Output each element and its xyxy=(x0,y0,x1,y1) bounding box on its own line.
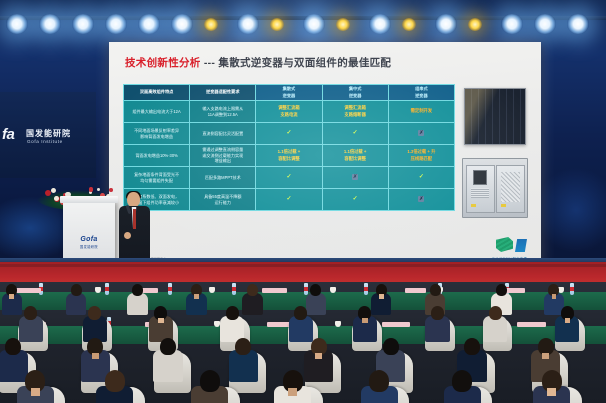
slide-title: 技术创新性分析 --- 集散式逆变器与双面组件的最佳匹配 xyxy=(125,55,391,70)
table-cell-verdict: ✓ xyxy=(322,123,388,145)
stage-light xyxy=(303,14,325,34)
comparison-table: 双面高效组件特点逆变器适配性要求集散式逆变器集中式逆变器组串式逆变器 组件最大输… xyxy=(123,84,455,211)
audience-member-head xyxy=(489,306,502,320)
table-cell-verdict: ✗ xyxy=(388,189,454,211)
presenter-head xyxy=(127,192,140,207)
water-bottle xyxy=(105,283,109,295)
wall-logo-english: Gofa Institute xyxy=(27,139,63,144)
check-icon: ✓ xyxy=(286,130,291,136)
stage-light xyxy=(237,14,259,34)
audience-member-head xyxy=(132,284,143,296)
wall-logo: fa 国发能研院 Gofa Institute xyxy=(0,118,92,152)
slide-title-highlight: 技术创新性分析 xyxy=(125,57,201,69)
table-cell-verdict: 1.3倍过载 + 升压线路匹配 xyxy=(388,145,454,167)
stage-light xyxy=(39,14,61,34)
solar-panel-image xyxy=(464,88,526,145)
podium-logo-chinese: 国发能研院 xyxy=(74,244,104,249)
stage-light xyxy=(171,14,193,34)
podium-logo-brand: Gofa xyxy=(74,236,104,243)
audience-member-head xyxy=(369,370,389,392)
audience-member-head xyxy=(430,284,441,296)
audience-member-torso xyxy=(289,316,313,342)
cross-icon: ✗ xyxy=(352,174,358,180)
flower xyxy=(109,188,113,192)
audience-member-neck xyxy=(288,388,297,396)
slide-title-rest: --- 集散式逆变器与双面组件的最佳匹配 xyxy=(201,57,392,69)
table-cell: 输入支路电流上限需从11A调整到12.5A xyxy=(190,101,256,123)
audience-member-head xyxy=(310,284,321,296)
podium-top xyxy=(60,196,118,203)
table-header-cell: 组串式逆变器 xyxy=(388,85,454,101)
stage-light xyxy=(6,14,28,34)
check-icon: ✓ xyxy=(286,174,291,180)
stage-light xyxy=(435,14,457,34)
audience-member-head xyxy=(235,338,251,355)
audience-member-torso xyxy=(127,293,147,315)
stage-light xyxy=(468,18,482,31)
audience-member-torso xyxy=(229,350,259,382)
wall-logo-mark: fa xyxy=(2,126,14,143)
audience-member-head xyxy=(294,306,307,320)
audience-member-head xyxy=(160,338,176,355)
audience-member-neck xyxy=(31,388,40,396)
table-row: 复杂地面条件背面受光不均匀需要组件失配匹配多路MPPT技术✓✗✓ xyxy=(124,167,455,189)
table-header-cell: 逆变器适配性要求 xyxy=(190,85,256,101)
audience-member-neck xyxy=(315,353,322,359)
presentation-slide: 技术创新性分析 --- 集散式逆变器与双面组件的最佳匹配 双面高效组件特点逆变器… xyxy=(109,42,541,267)
table-cell-verdict: ✓ xyxy=(256,123,322,145)
cross-icon: ✗ xyxy=(418,130,424,136)
inverter-cabinet-image xyxy=(462,158,528,218)
table-header-cell: 集中式逆变器 xyxy=(322,85,388,101)
cabinet-label-left xyxy=(471,204,476,207)
water-bottle xyxy=(570,283,574,295)
tea-cup xyxy=(330,287,336,293)
audience-member-head xyxy=(5,338,21,355)
audience-member-neck xyxy=(552,294,557,298)
table-cell: 背面发电增益10%-30% xyxy=(124,145,190,167)
table-cell: 直流侧容配比灵活配置 xyxy=(190,123,256,145)
audience-area xyxy=(0,282,606,403)
check-icon: ✓ xyxy=(353,130,358,136)
table-cell: 具备55度高温不降额运行能力 xyxy=(190,189,256,211)
table-cell-verdict: ✓ xyxy=(256,167,322,189)
audience-member-neck xyxy=(379,294,384,298)
table-cell-verdict: 1.1倍过载 +容配比调整 xyxy=(322,145,388,167)
projection-screen: 技术创新性分析 --- 集散式逆变器与双面组件的最佳匹配 双面高效组件特点逆变器… xyxy=(109,42,541,267)
water-bottle xyxy=(168,283,172,295)
cabinet-door-right xyxy=(496,165,525,213)
audience-member-head xyxy=(464,338,480,355)
table-row: 组件最大输出电流大于12A输入支路电流上限需从11A调整到12.5A调整汇流箱支… xyxy=(124,101,455,123)
audience-member-head xyxy=(200,370,220,392)
water-bottle xyxy=(304,283,308,295)
audience-member-head xyxy=(71,284,82,296)
audience-member-torso xyxy=(306,293,326,315)
table-row: 温度系数低、双面发电，高温下组件功率衰减较小具备55度高温不降额运行能力✓✓✗ xyxy=(124,189,455,211)
table-body: 组件最大输出电流大于12A输入支路电流上限需从11A调整到12.5A调整汇流箱支… xyxy=(124,101,455,211)
stage-light xyxy=(138,14,160,34)
cross-icon: ✗ xyxy=(418,196,424,202)
audience-member-neck xyxy=(362,318,368,323)
table-cell-verdict: ✓ xyxy=(388,167,454,189)
audience-member-head xyxy=(383,338,399,355)
audience-member-head xyxy=(247,284,258,296)
presenter-tie xyxy=(133,209,136,229)
flower xyxy=(51,188,56,193)
audience-member-torso xyxy=(425,316,449,342)
table-cell-verdict: ✗ xyxy=(388,123,454,145)
tea-cup xyxy=(209,287,215,293)
audience-member-head xyxy=(496,284,507,296)
stage-light xyxy=(369,14,391,34)
table-cell: 匹配多路MPPT技术 xyxy=(190,167,256,189)
table-cell: 组件最大输出电流大于12A xyxy=(124,101,190,123)
audience-member-neck xyxy=(158,318,164,323)
table-cell: 复杂地面条件背面受光不均匀需要组件失配 xyxy=(124,167,190,189)
table-cell-verdict: ✗ xyxy=(322,167,388,189)
audience-member-torso xyxy=(66,293,86,315)
check-icon: ✓ xyxy=(353,196,358,202)
audience-member-head xyxy=(88,306,101,320)
stage-light xyxy=(204,18,218,31)
audience-member-torso xyxy=(0,350,28,382)
table-row: 背面发电增益10%-30%需通过调整直流侧容量或交流侧过载能力实现增益输出1.1… xyxy=(124,145,455,167)
verdict-text: 需定制开发 xyxy=(411,108,432,113)
cabinet-label-right xyxy=(501,204,506,207)
flower xyxy=(45,190,51,196)
audience-member-neck xyxy=(92,353,99,359)
podium-logo: Gofa 国发能研院 xyxy=(74,236,104,249)
verdict-text: 调整汇流箱支路熔断器 xyxy=(344,105,365,116)
handout-paper xyxy=(382,322,410,327)
stage-light xyxy=(402,18,416,31)
verdict-text: 1.1倍过载 +容配比调整 xyxy=(344,149,367,160)
conference-hall-scene: fa 国发能研院 Gofa Institute 技术创新性分析 --- 集散式逆… xyxy=(0,0,606,403)
audience-member-torso xyxy=(483,316,507,342)
bar-icon xyxy=(515,239,527,252)
table-cell-verdict: 调整汇流箱支路电流 xyxy=(256,101,322,123)
handout-paper xyxy=(262,288,288,293)
table-cell-verdict: 1.1倍过载 +容配比调整 xyxy=(256,145,322,167)
audience-member-head xyxy=(24,306,37,320)
water-bottle xyxy=(364,283,368,295)
table-cell: 需通过调整直流侧容量或交流侧过载能力实现增益输出 xyxy=(190,145,256,167)
cabinet-door-left xyxy=(466,165,495,213)
cabinet-display xyxy=(473,170,487,185)
presenter-hand xyxy=(124,232,131,239)
stage-light xyxy=(501,14,523,34)
audience-member-neck xyxy=(542,353,549,359)
leaf-icon xyxy=(496,237,513,252)
audience-member-head xyxy=(431,306,444,320)
table-cell-verdict: 需定制开发 xyxy=(388,101,454,123)
audience-member-neck xyxy=(194,294,199,298)
stage-light xyxy=(105,14,127,34)
audience-member-torso xyxy=(19,316,43,342)
flower xyxy=(54,196,59,201)
cabinet-vent xyxy=(471,188,489,198)
verdict-text: 1.3倍过载 + 升压线路匹配 xyxy=(407,149,435,160)
flower xyxy=(89,187,94,192)
stage-light xyxy=(534,14,556,34)
table-cell-verdict: ✓ xyxy=(256,189,322,211)
cabinet-grill xyxy=(501,172,520,202)
table-cell: 不同地面场景反射率差异影响背面发电增益 xyxy=(124,123,190,145)
flower xyxy=(97,188,100,191)
stage-light xyxy=(270,18,284,31)
stage-light xyxy=(567,14,589,34)
check-icon: ✓ xyxy=(419,174,424,180)
audience-member-torso xyxy=(242,293,262,315)
table-row: 不同地面场景反射率差异影响背面发电增益直流侧容配比灵活配置✓✓✗ xyxy=(124,123,455,145)
audience-member-neck xyxy=(547,388,556,396)
table-header-cell: 双面高效组件特点 xyxy=(124,85,190,101)
wall-logo-chinese: 国发能研院 xyxy=(26,128,71,139)
audience-member-head xyxy=(452,370,472,392)
stage-light xyxy=(336,18,350,31)
check-icon: ✓ xyxy=(286,196,291,202)
table-header-row: 双面高效组件特点逆变器适配性要求集散式逆变器集中式逆变器组串式逆变器 xyxy=(124,85,455,101)
audience-member-head xyxy=(226,306,239,320)
audience-member-neck xyxy=(565,318,571,323)
verdict-text: 1.1倍过载 +容配比调整 xyxy=(278,149,301,160)
handout-paper xyxy=(405,288,426,293)
table-cell-verdict: 调整汇流箱支路熔断器 xyxy=(322,101,388,123)
table-head: 双面高效组件特点逆变器适配性要求集散式逆变器集中式逆变器组串式逆变器 xyxy=(124,85,455,101)
audience-member-torso xyxy=(153,350,183,382)
table-header-cell: 集散式逆变器 xyxy=(256,85,322,101)
verdict-text: 调整汇流箱支路电流 xyxy=(278,105,299,116)
handout-paper xyxy=(16,288,42,293)
handout-paper xyxy=(517,322,546,327)
audience-member-neck xyxy=(9,294,14,298)
stage-light xyxy=(72,14,94,34)
table-cell-verdict: ✓ xyxy=(322,189,388,211)
stage-lip xyxy=(0,264,606,267)
audience-member-head xyxy=(105,370,125,392)
water-bottle xyxy=(232,283,236,295)
